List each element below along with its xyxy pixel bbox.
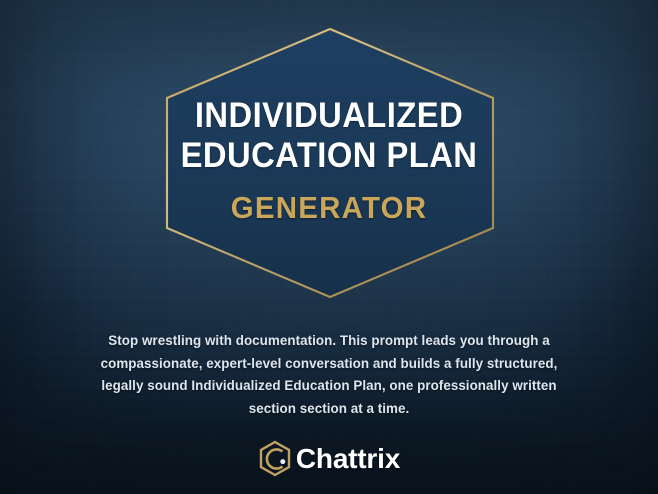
brand-logo: Chattrix	[0, 440, 658, 478]
description-paragraph: Stop wrestling with documentation. This …	[78, 330, 580, 420]
page-title-accent: GENERATOR	[16, 190, 641, 226]
page-title-line-1: INDIVIDUALIZED	[21, 96, 636, 136]
chattrix-hexagon-c-logo-icon	[258, 440, 294, 478]
brand-name: Chattrix	[296, 444, 400, 474]
title-block: INDIVIDUALIZED EDUCATION PLAN GENERATOR	[0, 96, 658, 226]
page-title-line-2: EDUCATION PLAN	[21, 136, 636, 176]
slide-canvas: INDIVIDUALIZED EDUCATION PLAN GENERATOR …	[0, 0, 658, 494]
